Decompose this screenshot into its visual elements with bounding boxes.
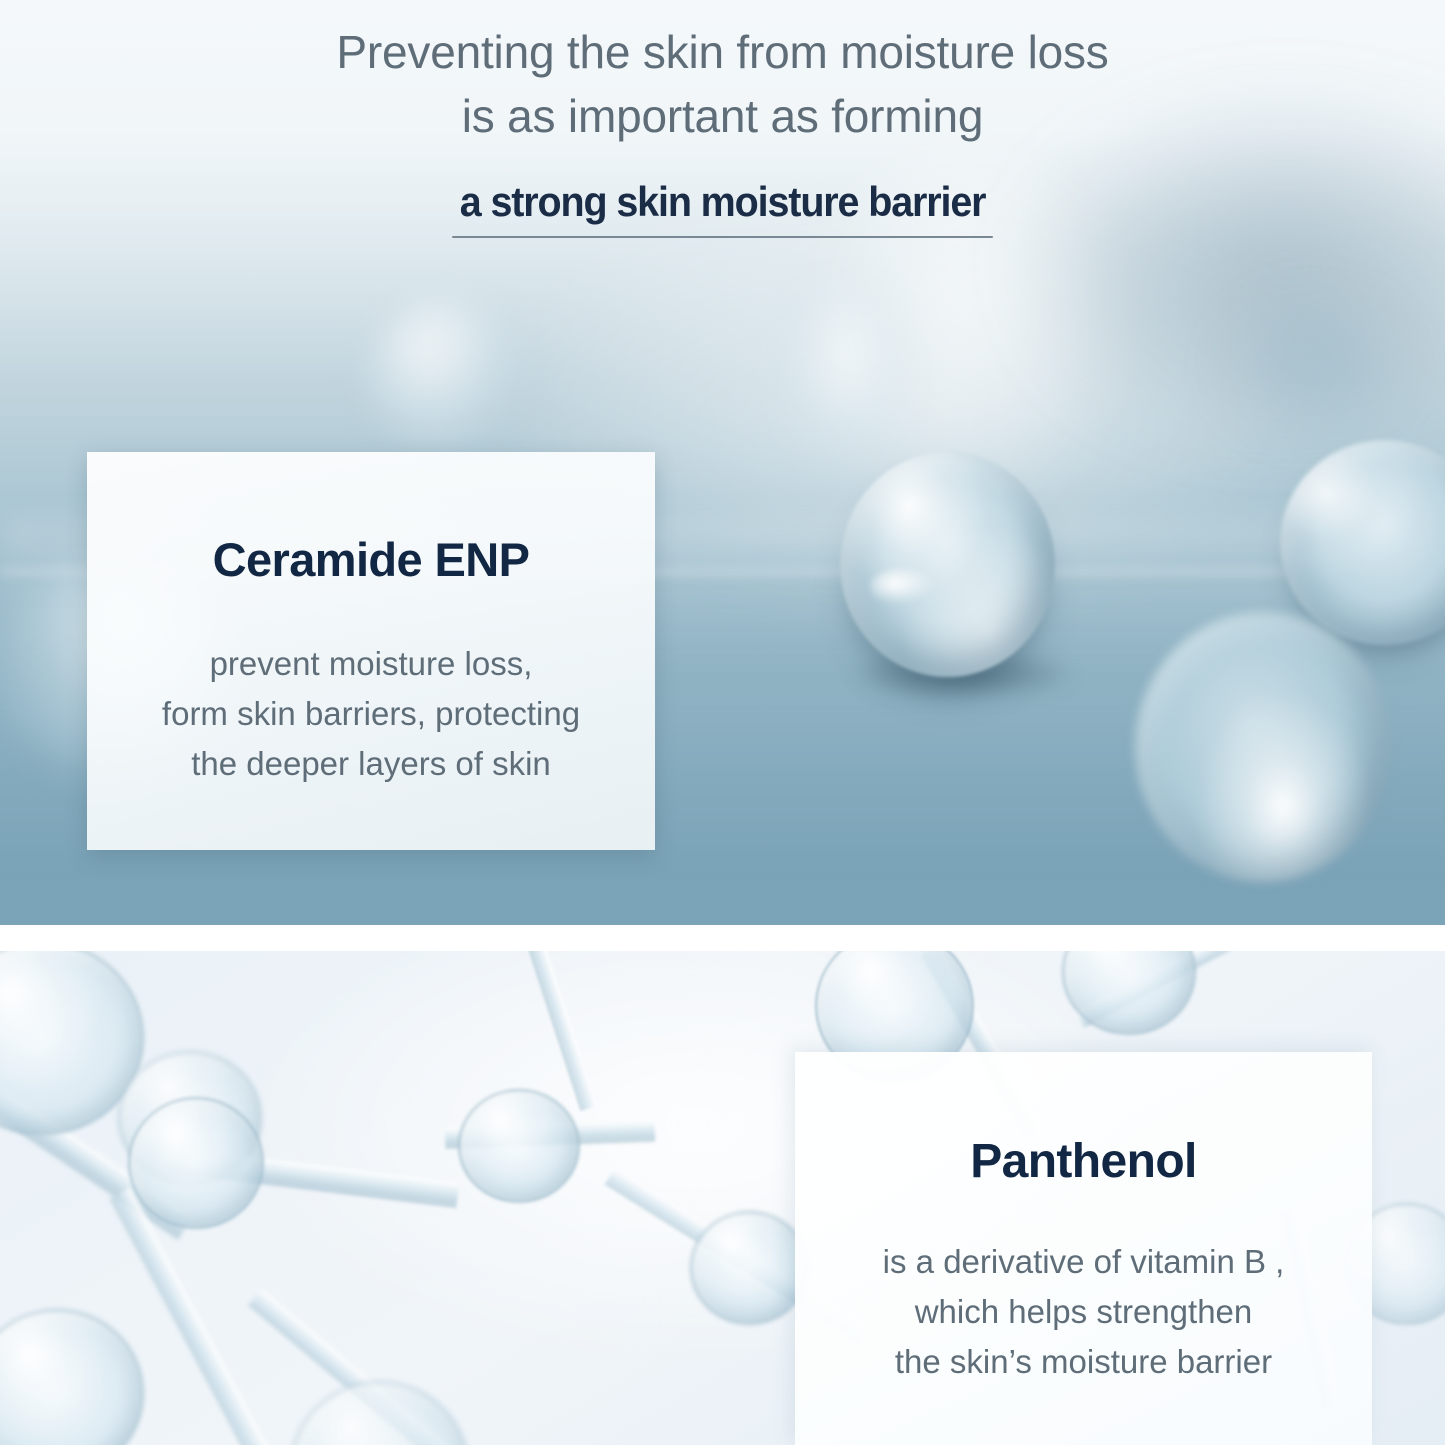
background-droplet-blurred-1 bbox=[370, 300, 520, 450]
panthenol-info-card: Panthenol is a derivative of vitamin B ,… bbox=[795, 1052, 1372, 1445]
panthenol-card-title: Panthenol bbox=[970, 1134, 1197, 1189]
headline-line-1: Preventing the skin from moisture loss bbox=[0, 0, 1445, 84]
water-droplet-main bbox=[840, 452, 1055, 677]
headline-emphasis: a strong skin moisture barrier bbox=[452, 174, 993, 238]
molecule-node-7 bbox=[690, 1211, 809, 1325]
background-droplet-blurred-4 bbox=[1215, 290, 1415, 440]
molecule-node-4 bbox=[458, 1089, 580, 1203]
panel-divider bbox=[0, 925, 1445, 951]
ceramide-card-title: Ceramide ENP bbox=[213, 532, 530, 587]
skincare-ingredient-infographic: Preventing the skin from moisture loss i… bbox=[0, 0, 1445, 1445]
panthenol-body-line-3: the skin’s moisture barrier bbox=[883, 1337, 1285, 1387]
headline-line-2: is as important as forming bbox=[0, 84, 1445, 148]
headline-block: Preventing the skin from moisture loss i… bbox=[0, 0, 1445, 238]
panthenol-card-body: is a derivative of vitamin B , which hel… bbox=[883, 1237, 1285, 1387]
background-droplet-blurred-2 bbox=[780, 282, 910, 462]
ceramide-body-line-2: form skin barriers, protecting bbox=[162, 689, 580, 739]
molecule-node-9 bbox=[0, 1309, 144, 1445]
panthenol-body-line-1: is a derivative of vitamin B , bbox=[883, 1237, 1285, 1287]
panthenol-body-line-2: which helps strengthen bbox=[883, 1287, 1285, 1337]
molecule-node-10 bbox=[290, 1381, 469, 1445]
ceramide-body-line-1: prevent moisture loss, bbox=[162, 639, 580, 689]
molecule-node-3 bbox=[128, 1097, 264, 1229]
headline-emphasis-wrap: a strong skin moisture barrier bbox=[0, 174, 1445, 238]
water-droplet-right-bottom bbox=[1135, 612, 1390, 882]
ceramide-info-card: Ceramide ENP prevent moisture loss, form… bbox=[87, 452, 655, 850]
ceramide-card-body: prevent moisture loss, form skin barrier… bbox=[162, 639, 580, 789]
ceramide-body-line-3: the deeper layers of skin bbox=[162, 739, 580, 789]
